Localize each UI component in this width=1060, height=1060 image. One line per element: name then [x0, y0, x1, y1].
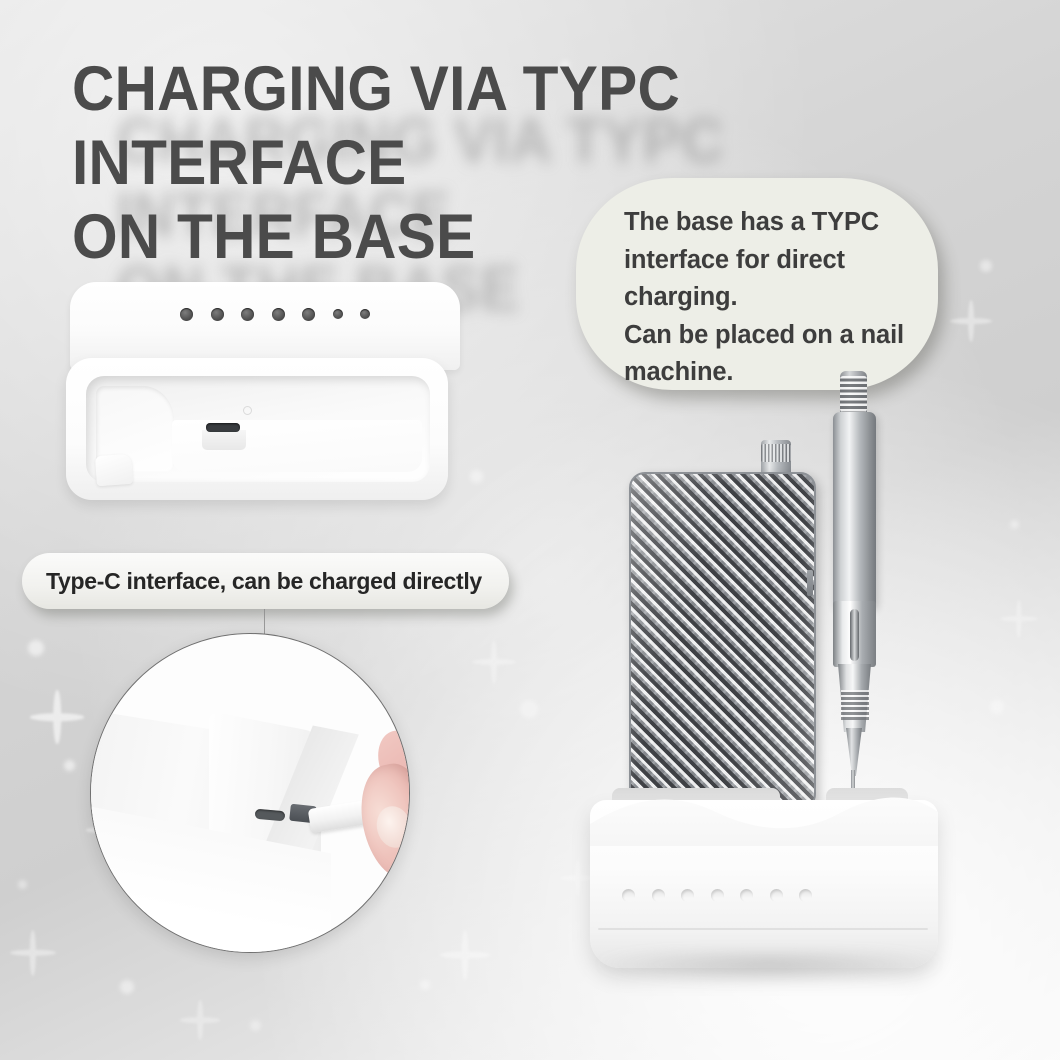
- callout-bubble: The base has a TYPC interface for direct…: [576, 178, 938, 390]
- handpiece-tip: [846, 728, 862, 776]
- base-dimple: [652, 889, 665, 902]
- product-marketing-image: CHARGING VIA TYPC INTERFACE ON THE BASE …: [0, 0, 1060, 1060]
- vent-hole: [211, 308, 224, 321]
- dock-back-wall: [70, 282, 460, 370]
- type-c-port-icon: [206, 423, 240, 432]
- dock-retention-tab: [95, 454, 133, 486]
- base-dimple: [770, 889, 783, 902]
- type-c-pill-label-text: Type-C interface, can be charged directl…: [22, 553, 509, 609]
- vent-hole: [272, 308, 285, 321]
- unit-sheen: [631, 474, 814, 808]
- base-seam-line: [598, 928, 928, 930]
- base-dimple: [622, 889, 635, 902]
- vent-hole: [333, 309, 343, 319]
- dock-port-lip: [202, 430, 246, 450]
- vent-hole: [302, 308, 315, 321]
- dock-vent-holes: [180, 306, 370, 322]
- vent-hole: [360, 309, 370, 319]
- callout-bubble-text: The base has a TYPC interface for direct…: [624, 204, 934, 392]
- handpiece-grip-ribs: [840, 376, 867, 412]
- handpiece-collar-slot: [850, 609, 859, 661]
- base-dimple: [799, 889, 812, 902]
- vent-hole: [180, 308, 193, 321]
- magnifier-inset: [90, 633, 410, 953]
- base-dimple: [711, 889, 724, 902]
- dock-indicator-dot: [243, 406, 252, 415]
- handpiece-rings: [841, 690, 869, 720]
- base-dimple: [681, 889, 694, 902]
- type-c-pill-label: Type-C interface, can be charged directl…: [22, 553, 509, 609]
- handpiece-body: [833, 412, 876, 607]
- base-dimples: [622, 888, 812, 902]
- base-dimple: [740, 889, 753, 902]
- magnifier-inset-content: [91, 634, 409, 952]
- unit-connector-knurling: [761, 444, 791, 462]
- carbon-fiber-unit: [629, 472, 816, 810]
- vent-hole: [241, 308, 254, 321]
- unit-side-button: [807, 570, 813, 596]
- base-contact-shadow: [596, 952, 942, 982]
